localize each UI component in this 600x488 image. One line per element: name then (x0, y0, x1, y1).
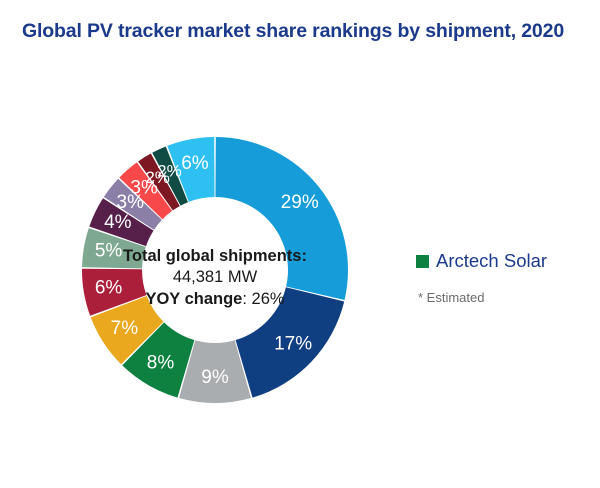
donut-slice-label: 6% (181, 153, 209, 174)
center-yoy: YOY change: 26% (105, 289, 325, 310)
donut-center-annotation: Total global shipments: 44,381 MW YOY ch… (105, 246, 325, 310)
legend-swatch-icon (416, 255, 429, 268)
chart-legend: Arctech Solar * Estimated (416, 250, 586, 305)
donut-slice-label: 2% (157, 162, 182, 181)
donut-slice-label: 9% (201, 367, 229, 388)
legend-footnote: * Estimated (418, 290, 586, 305)
center-yoy-label: YOY change (145, 290, 242, 308)
chart-container: Global PV tracker market share rankings … (0, 0, 600, 488)
donut-slice-label: 7% (111, 318, 139, 339)
center-total-label: Total global shipments: (105, 246, 325, 267)
donut-slice-label: 29% (281, 192, 319, 213)
donut-slice-label: 17% (274, 334, 312, 355)
center-total-value: 44,381 MW (105, 267, 325, 288)
chart-title: Global PV tracker market share rankings … (22, 20, 582, 43)
center-yoy-value: : 26% (242, 290, 284, 308)
legend-item-arctech-solar: Arctech Solar (416, 250, 586, 272)
donut-slice-label: 4% (104, 212, 132, 233)
legend-item-label: Arctech Solar (436, 250, 547, 272)
donut-slice-label: 8% (147, 352, 175, 373)
